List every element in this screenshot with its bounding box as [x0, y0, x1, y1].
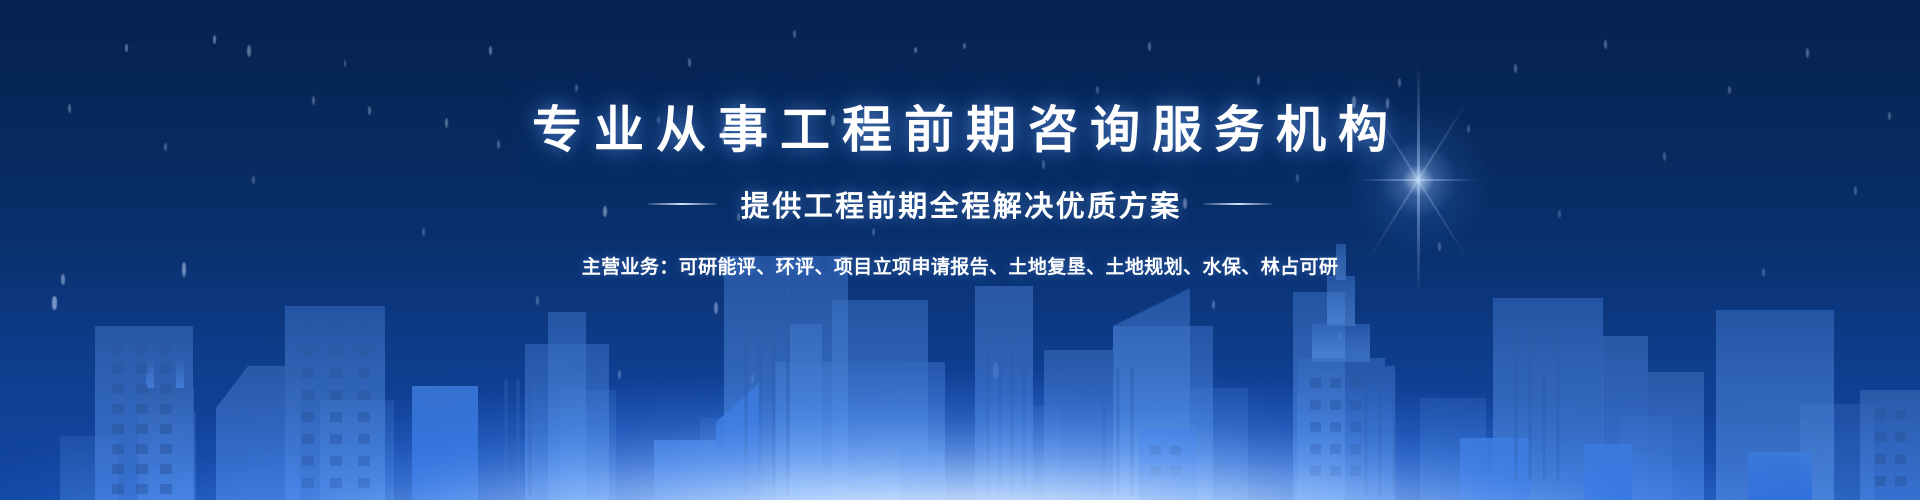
star-particle [963, 43, 966, 49]
star-particle [1338, 332, 1341, 341]
horizon-edge-glow [0, 410, 1920, 500]
rule-right-icon [1204, 203, 1272, 205]
hero-banner: 专业从事工程前期咨询服务机构 提供工程前期全程解决优质方案 主营业务：可研能评、… [0, 0, 1920, 500]
banner-headline: 专业从事工程前期咨询服务机构 [0, 104, 1920, 157]
banner-subtitle-row: 提供工程前期全程解决优质方案 [0, 183, 1920, 225]
star-particle [751, 374, 754, 383]
star-particle [125, 44, 128, 52]
star-particle [1398, 78, 1401, 87]
star-particle [536, 296, 539, 305]
star-particle [247, 45, 251, 57]
star-particle [1096, 86, 1099, 94]
city-skyline [0, 240, 1920, 500]
star-particle [1806, 48, 1809, 58]
horizon-glow [0, 380, 1920, 500]
spire-tower [1297, 244, 1395, 500]
building-windows [112, 324, 1906, 494]
star-particle [344, 60, 346, 67]
star-particle [213, 35, 216, 44]
star-particle [993, 362, 999, 379]
star-particle [688, 58, 691, 67]
skyline-accent-buildings [412, 382, 1812, 500]
star-particle [1212, 300, 1215, 309]
star-particle [1257, 76, 1260, 85]
star-particle [1728, 86, 1731, 94]
star-particle [1514, 64, 1517, 73]
building-flutes [506, 288, 1558, 496]
banner-content: 专业从事工程前期咨询服务机构 提供工程前期全程解决优质方案 主营业务：可研能评、… [0, 104, 1920, 279]
star-particle [1604, 40, 1607, 49]
star-particle [618, 370, 621, 379]
skyline-layer-near [95, 286, 1920, 500]
skyline-layer-mid [285, 256, 1834, 500]
star-particle [1148, 42, 1151, 51]
rule-left-icon [648, 203, 716, 205]
banner-services-line: 主营业务：可研能评、环评、项目立项申请报告、土地复垦、土地规划、水保、林占可研 [0, 252, 1920, 279]
star-particle [52, 296, 57, 310]
star-particle [489, 46, 492, 55]
banner-subtitle: 提供工程前期全程解决优质方案 [738, 183, 1182, 225]
star-particle [575, 84, 578, 92]
skyline-layer-far [60, 388, 1874, 500]
star-particle [914, 47, 917, 53]
star-particle [793, 30, 796, 38]
star-particle [714, 302, 718, 314]
